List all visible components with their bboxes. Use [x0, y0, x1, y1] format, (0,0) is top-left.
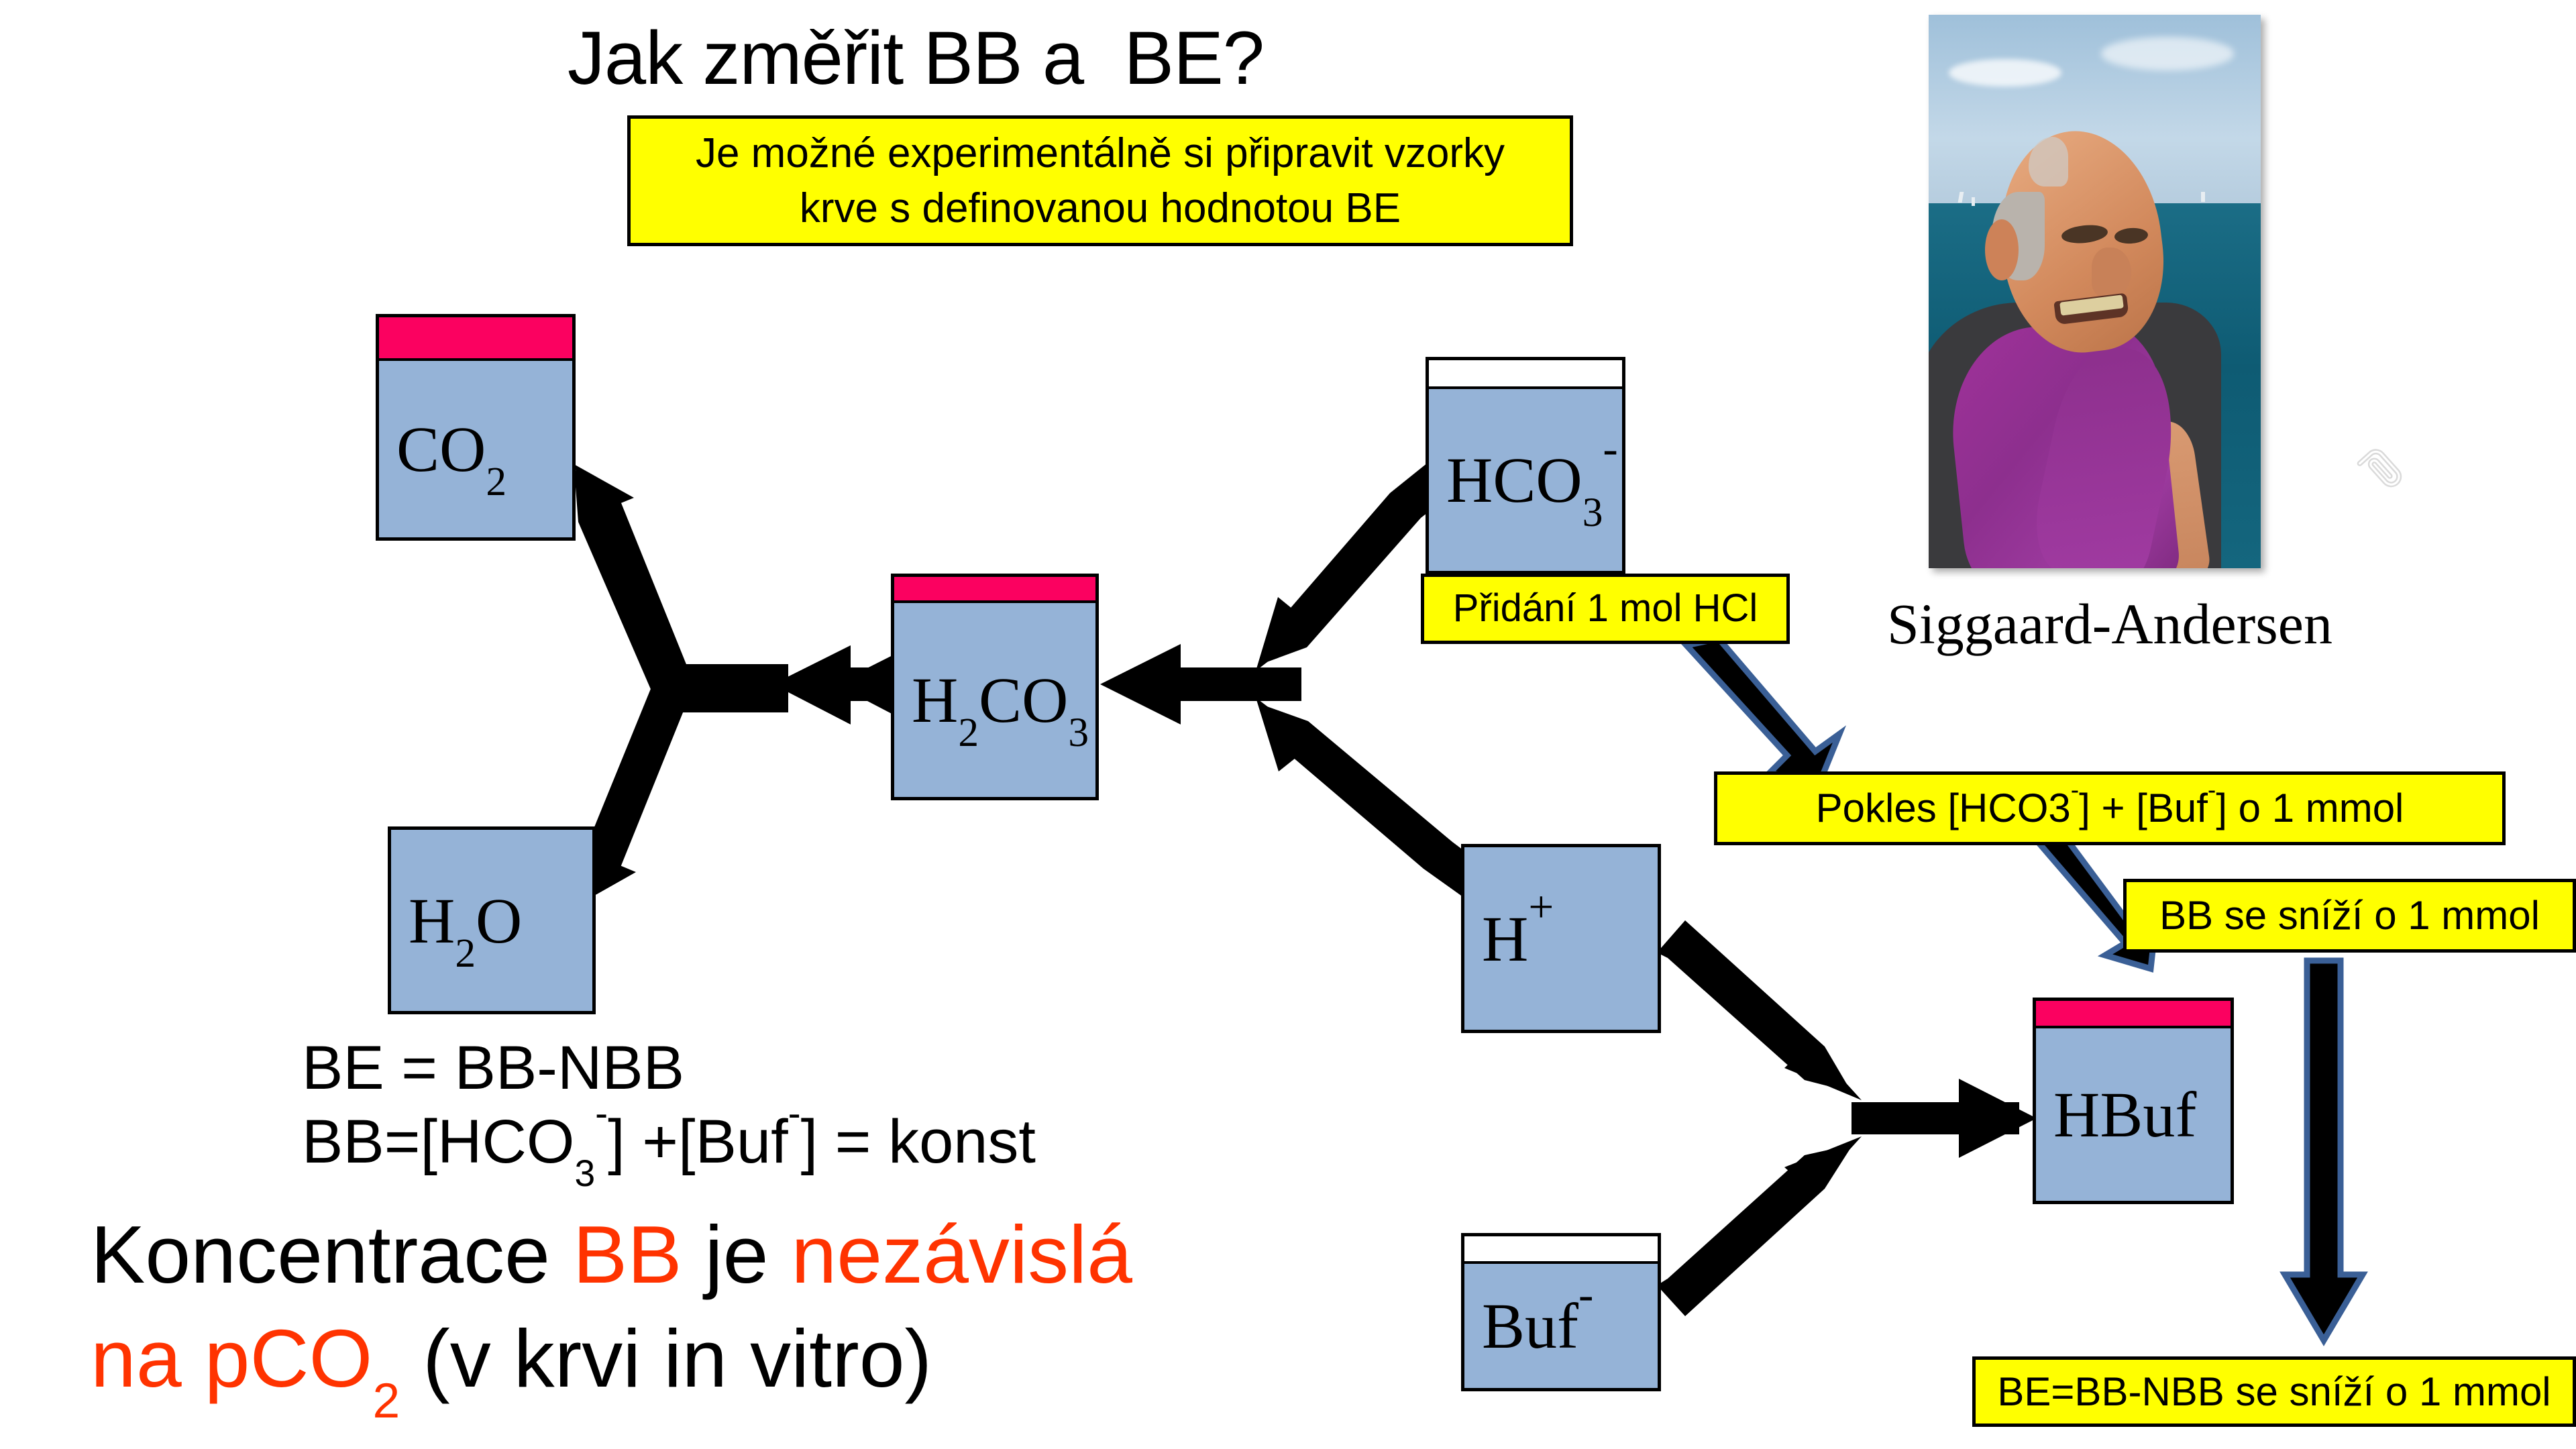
arrowhead-from-hco3	[1256, 597, 1339, 671]
beaker-label-hbuf: HBuf	[2036, 1077, 2196, 1152]
photo-sailboat	[1972, 197, 1975, 206]
arrowhead-merge-top	[1784, 1020, 1862, 1100]
beaker-h2o: H2O	[388, 826, 596, 1014]
beaker-buf-minus: Buf-	[1461, 1233, 1661, 1391]
arrowhead-merge-bottom	[1784, 1136, 1862, 1216]
callout-bb-decrease: BB se sníží o 1 mmol	[2123, 879, 2576, 953]
arrow-merge-to-hbuf	[1851, 1102, 2019, 1134]
beaker-label-hplus: H+	[1464, 902, 1554, 976]
beaker-label-co2: CO2	[379, 412, 506, 486]
arrow-hplus-to-hbuf	[1657, 920, 1851, 1092]
beaker-body: HBuf	[2033, 1028, 2234, 1204]
beaker-body: CO2	[376, 361, 576, 541]
beaker-cap-white	[1426, 357, 1625, 389]
callout-intro-line1: Je možné experimentálně si připravit vzo…	[696, 126, 1505, 181]
arrowhead-junction-left	[773, 645, 851, 724]
beaker-hco3: HCO3-	[1426, 357, 1625, 574]
photo-cloud	[2101, 37, 2234, 70]
beaker-cap-pink	[2033, 998, 2234, 1028]
arrow-junction-to-h2o	[578, 664, 788, 899]
formula-bb: BB=[HCO3-] +[Buf-] = konst	[302, 1107, 1036, 1177]
beaker-body: H2O	[388, 826, 596, 1014]
paperclip-icon	[2348, 443, 2408, 503]
arrowhead-h2co3-right	[1100, 644, 1181, 724]
arrow-junction-to-co2	[574, 470, 788, 712]
arrow-into-h2co3-right	[1140, 667, 1301, 701]
beaker-body: HCO3-	[1426, 389, 1625, 574]
arrow-hcl-to-pokles	[1686, 639, 1839, 784]
beaker-body: H2CO3	[891, 603, 1099, 800]
arrow-hplus-to-junction	[1261, 704, 1488, 896]
arrowhead-from-hplus	[1256, 698, 1340, 771]
arrow-buf-to-hbuf	[1657, 1144, 1853, 1316]
beaker-h-plus: H+	[1461, 844, 1661, 1033]
photo-cloud	[1949, 59, 2061, 87]
conclusion-line-2: na pCO2 (v krvi in vitro)	[91, 1311, 932, 1405]
callout-intro-line2: krve s definovanou hodnotou BE	[696, 181, 1505, 236]
beaker-label-h2o: H2O	[391, 883, 522, 958]
photo-ear	[1985, 219, 2019, 280]
beaker-cap-white	[1461, 1233, 1661, 1264]
beaker-co2: CO2	[376, 314, 576, 541]
conclusion-line-1: Koncentrace BB je nezávislá	[91, 1207, 1132, 1301]
photo-sailboat	[2201, 192, 2205, 202]
formula-be: BE = BB-NBB	[302, 1033, 684, 1104]
arrowhead-hbuf	[1959, 1079, 2037, 1158]
portrait-photo-siggaard-andersen	[1929, 15, 2261, 568]
page-title: Jak změřit BB a BE?	[0, 15, 1831, 101]
callout-pokles: Pokles [HCO3-] + [Buf-] o 1 mmol	[1714, 771, 2506, 845]
callout-intro: Je možné experimentálně si připravit vzo…	[627, 115, 1573, 246]
beaker-body: H+	[1461, 844, 1661, 1033]
arrow-bb-to-be	[2285, 961, 2363, 1340]
beaker-hbuf: HBuf	[2033, 998, 2234, 1204]
callout-add-hcl: Přidání 1 mol HCl	[1421, 574, 1790, 644]
beaker-cap-pink	[891, 574, 1099, 603]
beaker-label-h2co3: H2CO3	[894, 663, 1089, 737]
callout-pokles-text: Pokles [HCO3-] + [Buf-] o 1 mmol	[1816, 782, 2404, 835]
beaker-label-buf: Buf-	[1464, 1289, 1593, 1363]
beaker-cap-pink	[376, 314, 576, 361]
beaker-body: Buf-	[1461, 1264, 1661, 1391]
beaker-label-hco3: HCO3-	[1429, 443, 1618, 517]
beaker-h2co3: H2CO3	[891, 574, 1099, 800]
arrowhead-co2	[572, 463, 634, 541]
callout-be-decrease: BE=BB-NBB se sníží o 1 mmol	[1972, 1356, 2576, 1427]
photo-caption: Siggaard-Andersen	[1875, 590, 2345, 657]
slide-canvas: Jak změřit BB a BE?	[0, 0, 2576, 1449]
photo-nose	[2092, 248, 2131, 297]
